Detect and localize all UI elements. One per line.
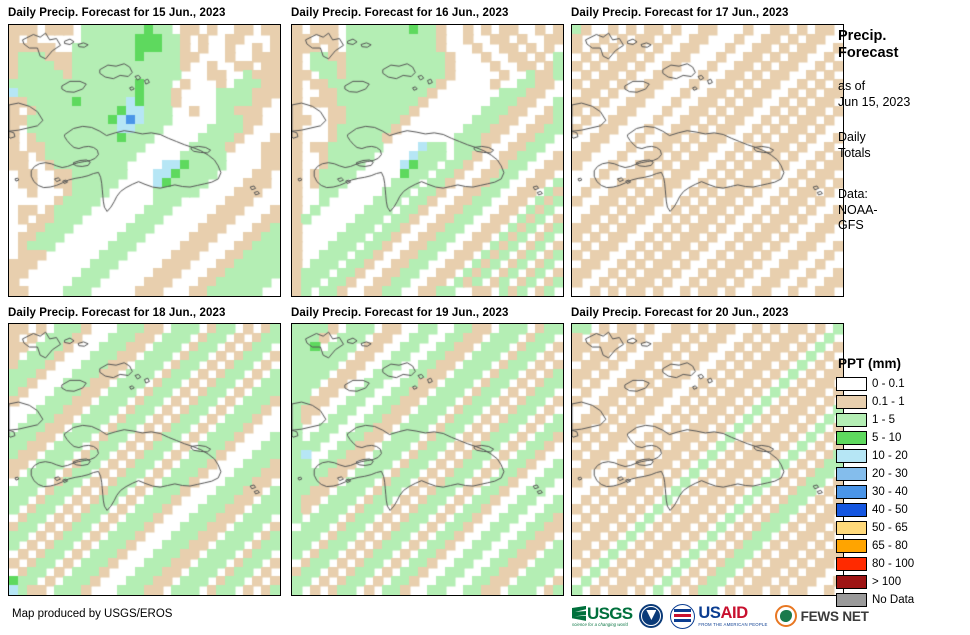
panel-title-2: Daily Precip. Forecast for 16 Jun., 2023 [291, 7, 509, 19]
info-asof-line2: Jun 15, 2023 [838, 95, 968, 111]
info-column: Precip. Forecast as of Jun 15, 2023 Dail… [838, 28, 968, 234]
legend-swatch [836, 557, 867, 571]
usaid-seal-icon [670, 604, 695, 629]
legend-label: No Data [872, 594, 914, 606]
usaid-logo: USAID FROM THE AMERICAN PEOPLE [670, 602, 767, 630]
legend-label: 40 - 50 [872, 504, 908, 516]
panel-title-3: Daily Precip. Forecast for 17 Jun., 2023 [571, 7, 789, 19]
panel-title-6: Daily Precip. Forecast for 20 Jun., 2023 [571, 307, 789, 319]
usaid-wordmark-us: US [698, 604, 720, 622]
map-frame-4[interactable] [8, 323, 281, 596]
legend-label: 10 - 20 [872, 450, 908, 462]
legend-rows: 0 - 0.10.1 - 11 - 55 - 1010 - 2020 - 303… [836, 375, 970, 609]
legend-label: 20 - 30 [872, 468, 908, 480]
map-frame-2[interactable] [291, 24, 564, 297]
legend-label: 5 - 10 [872, 432, 901, 444]
panel-title-5: Daily Precip. Forecast for 19 Jun., 2023 [291, 307, 509, 319]
legend-label: 80 - 100 [872, 558, 914, 570]
info-asof-line1: as of [838, 79, 968, 95]
usgs-tagline: science for a changing world [572, 623, 632, 627]
fews-globe-icon [775, 605, 797, 627]
legend-swatch [836, 377, 867, 391]
legend-row: 0 - 0.1 [836, 375, 970, 393]
legend-row: 1 - 5 [836, 411, 970, 429]
legend-swatch [836, 521, 867, 535]
map-frame-3[interactable] [571, 24, 844, 297]
legend-title: PPT (mm) [838, 356, 970, 371]
noaa-logo [639, 602, 663, 630]
legend-row: 20 - 30 [836, 465, 970, 483]
info-title-line1: Precip. [838, 28, 968, 45]
legend-swatch [836, 575, 867, 589]
usgs-wave-icon [572, 606, 586, 621]
agency-logos: USGS science for a changing world USAID … [572, 601, 869, 631]
precip-grid-canvas-3 [572, 25, 843, 296]
legend-row: 10 - 20 [836, 447, 970, 465]
fews-net-wordmark: FEWS NET [801, 609, 869, 624]
legend-label: 1 - 5 [872, 414, 895, 426]
legend-swatch [836, 467, 867, 481]
legend-swatch [836, 431, 867, 445]
precip-grid-canvas-2 [292, 25, 563, 296]
legend-label: 50 - 65 [872, 522, 908, 534]
legend-row: 80 - 100 [836, 555, 970, 573]
usaid-wordmark-aid: AID [721, 604, 748, 622]
precip-grid-canvas-5 [292, 324, 563, 595]
info-data-line2: NOAA- [838, 203, 968, 219]
legend-row: 30 - 40 [836, 483, 970, 501]
fews-net-logo: FEWS NET [775, 602, 869, 630]
map-frame-1[interactable] [8, 24, 281, 297]
usgs-wordmark: USGS [587, 605, 632, 622]
legend-row: > 100 [836, 573, 970, 591]
info-title-line2: Forecast [838, 45, 968, 62]
precip-grid-canvas-4 [9, 324, 280, 595]
legend-swatch [836, 449, 867, 463]
legend-label: > 100 [872, 576, 901, 588]
legend-swatch [836, 395, 867, 409]
precip-grid-canvas-1 [9, 25, 280, 296]
legend-label: 30 - 40 [872, 486, 908, 498]
usgs-logo: USGS science for a changing world [572, 602, 632, 630]
legend-label: 65 - 80 [872, 540, 908, 552]
legend-row: 65 - 80 [836, 537, 970, 555]
legend-swatch [836, 503, 867, 517]
usaid-tagline: FROM THE AMERICAN PEOPLE [698, 623, 767, 627]
precip-legend: PPT (mm) 0 - 0.10.1 - 11 - 55 - 1010 - 2… [836, 356, 970, 609]
legend-label: 0.1 - 1 [872, 396, 905, 408]
legend-swatch [836, 413, 867, 427]
legend-label: 0 - 0.1 [872, 378, 905, 390]
legend-row: 0.1 - 1 [836, 393, 970, 411]
legend-swatch [836, 485, 867, 499]
info-totals-line2: Totals [838, 146, 968, 162]
legend-row: 5 - 10 [836, 429, 970, 447]
noaa-seal-icon [639, 604, 663, 628]
map-frame-5[interactable] [291, 323, 564, 596]
map-credit: Map produced by USGS/EROS [12, 608, 172, 620]
info-data-line1: Data: [838, 187, 968, 203]
legend-row: 50 - 65 [836, 519, 970, 537]
legend-swatch [836, 539, 867, 553]
map-frame-6[interactable] [571, 323, 844, 596]
precip-grid-canvas-6 [572, 324, 843, 595]
info-data-line3: GFS [838, 218, 968, 234]
legend-row: 40 - 50 [836, 501, 970, 519]
info-totals-line1: Daily [838, 130, 968, 146]
panel-title-4: Daily Precip. Forecast for 18 Jun., 2023 [8, 307, 226, 319]
panel-title-1: Daily Precip. Forecast for 15 Jun., 2023 [8, 7, 226, 19]
